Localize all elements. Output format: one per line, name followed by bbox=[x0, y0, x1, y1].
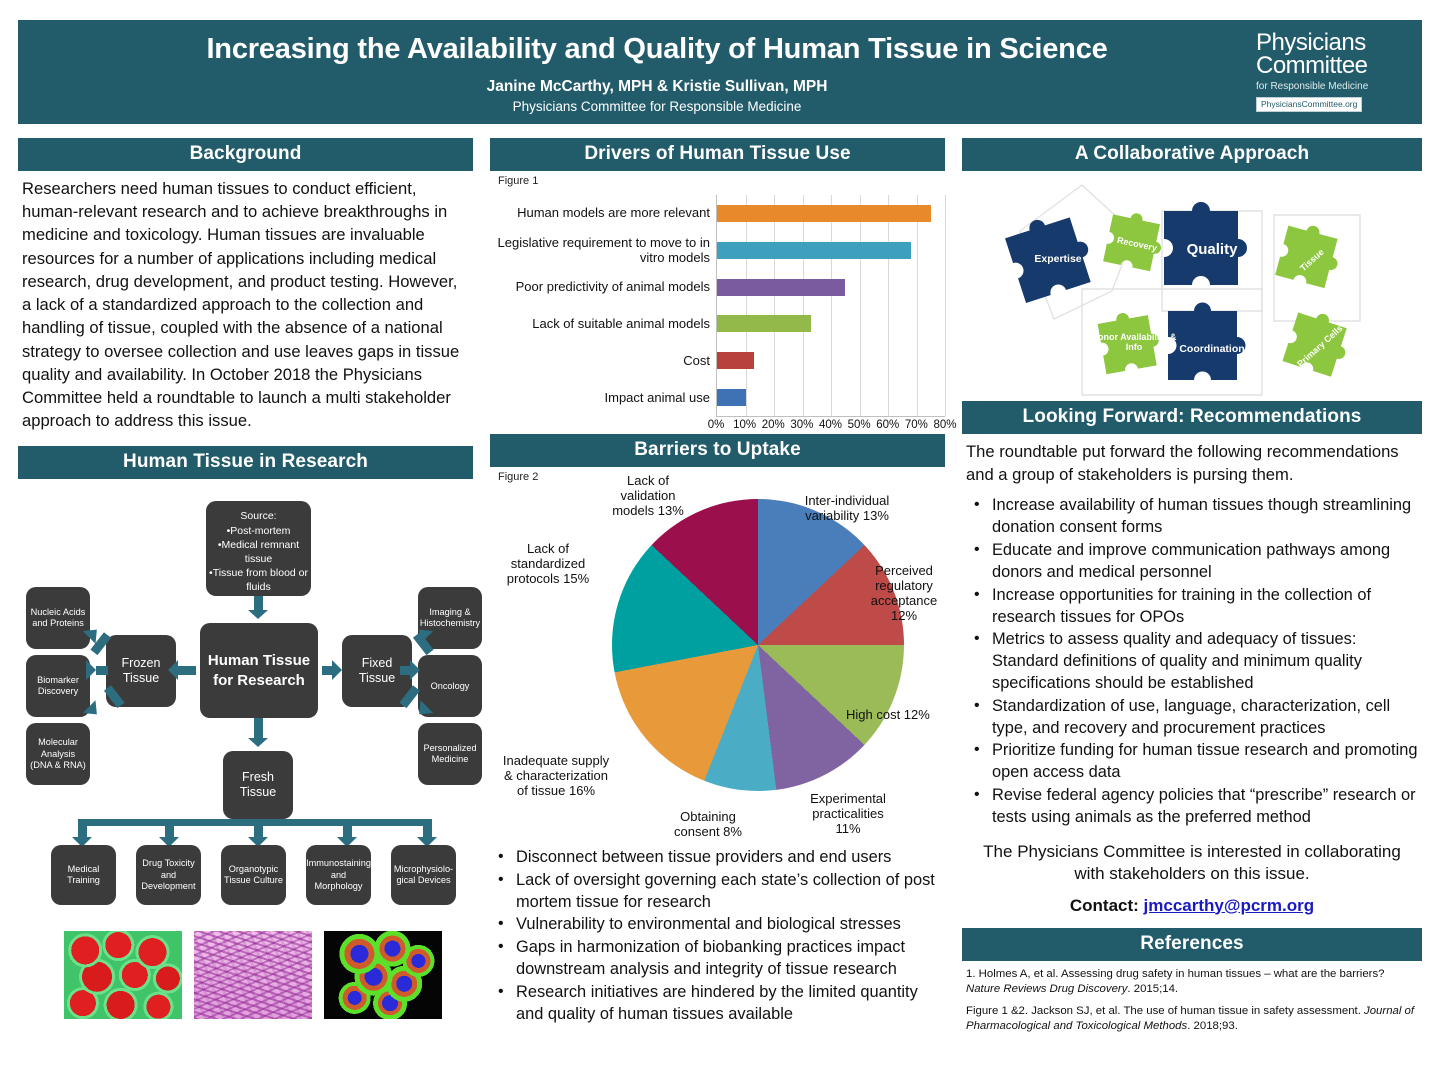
bar-row bbox=[717, 269, 945, 306]
fresh-drop-1 bbox=[165, 819, 174, 837]
column-right: A Collaborative Approach bbox=[962, 138, 1422, 1041]
drivers-heading: Drivers of Human Tissue Use bbox=[490, 138, 945, 171]
node-fresh-tissue: Fresh Tissue bbox=[223, 751, 293, 819]
arrow-center-to-fresh bbox=[254, 718, 263, 738]
bar-4 bbox=[717, 352, 754, 369]
bar-label-3: Lack of suitable animal models bbox=[490, 306, 716, 343]
bar-plot-area bbox=[716, 195, 945, 417]
logo-tagline: for Responsible Medicine bbox=[1256, 80, 1410, 93]
section-references: References 1. Holmes A, et al. Assessing… bbox=[962, 928, 1422, 1034]
source-item-0: •Post-mortem bbox=[209, 524, 308, 538]
fresh-drop-3 bbox=[343, 819, 352, 837]
node-molecular-analysis: Molecular Analysis (DNA & RNA) bbox=[26, 723, 90, 785]
node-source: Source: •Post-mortem •Medical remnant ti… bbox=[206, 501, 311, 596]
bar-row bbox=[717, 342, 945, 379]
tissue-diagram-heading: Human Tissue in Research bbox=[18, 446, 473, 479]
pie-slices bbox=[612, 499, 904, 791]
recommendations-intro: The roundtable put forward the following… bbox=[966, 440, 1418, 486]
background-text: Researchers need human tissues to conduc… bbox=[22, 177, 469, 432]
references-list: 1. Holmes A, et al. Assessing drug safet… bbox=[962, 961, 1422, 1034]
arrowhead-center-to-fresh bbox=[248, 738, 268, 747]
micrograph-cultured-cells bbox=[324, 931, 442, 1019]
source-title: Source: bbox=[209, 509, 308, 523]
puzzle-label-donor: Donor Availability & Info bbox=[1089, 332, 1179, 352]
contact-label: Contact: bbox=[1070, 896, 1139, 915]
figure-1-label: Figure 1 bbox=[498, 175, 538, 187]
pcrm-logo: Physicians Committee for Responsible Med… bbox=[1256, 32, 1414, 112]
bar-2 bbox=[717, 279, 845, 296]
contact-email-link[interactable]: jmccarthy@pcrm.org bbox=[1144, 896, 1315, 915]
arrow-source-to-center bbox=[254, 596, 263, 610]
recommendation-bullet-2: Increase opportunities for training in t… bbox=[966, 585, 1418, 629]
node-medical-training: Medical Training bbox=[51, 845, 116, 905]
column-left: Background Researchers need human tissue… bbox=[18, 138, 473, 1027]
fresh-drop-2 bbox=[254, 819, 263, 837]
node-immunostaining: Immunostaining and Morphology bbox=[306, 845, 371, 905]
collaborative-heading: A Collaborative Approach bbox=[962, 138, 1422, 171]
barriers-bullet-0: Disconnect between tissue providers and … bbox=[490, 847, 945, 869]
source-item-2: •Tissue from blood or fluids bbox=[209, 566, 308, 594]
recommendation-bullet-6: Revise federal agency policies that “pre… bbox=[966, 785, 1418, 829]
bar-row bbox=[717, 195, 945, 232]
section-background: Background Researchers need human tissue… bbox=[18, 138, 473, 432]
bar-0 bbox=[717, 205, 931, 222]
micrograph-row bbox=[18, 931, 473, 1027]
x-tick-4: 40% bbox=[819, 419, 842, 431]
poster-affiliation: Physicians Committee for Responsible Med… bbox=[58, 99, 1256, 114]
bar-chart: Figure 1 Human models are more relevant … bbox=[490, 173, 945, 428]
poster-header: Increasing the Availability and Quality … bbox=[18, 20, 1422, 124]
node-personalized-medicine: Personalized Medicine bbox=[418, 723, 482, 785]
arrowhead-center-to-frozen bbox=[168, 660, 178, 680]
puzzle-piece-coordination bbox=[1168, 303, 1246, 381]
contact-line: Contact: jmccarthy@pcrm.org bbox=[966, 896, 1418, 916]
node-nucleic-acids-proteins: Nucleic Acids and Proteins bbox=[26, 587, 90, 649]
bar-gridline bbox=[945, 195, 946, 416]
bar-row bbox=[717, 379, 945, 416]
recommendation-bullet-1: Educate and improve communication pathwa… bbox=[966, 540, 1418, 584]
barriers-bullet-4: Research initiatives are hindered by the… bbox=[490, 982, 945, 1026]
node-biomarker-discovery: Biomarker Discovery bbox=[26, 655, 90, 717]
barriers-bullet-3: Gaps in harmonization of biobanking prac… bbox=[490, 937, 945, 981]
section-recommendations: Looking Forward: Recommendations The rou… bbox=[962, 401, 1422, 916]
fresh-drop-4 bbox=[423, 819, 432, 837]
pie-label-perceived-regulatory: Perceived regulatory acceptance 12% bbox=[858, 563, 950, 623]
bar-1 bbox=[717, 242, 911, 259]
logo-url: PhysiciansCommittee.org bbox=[1256, 97, 1362, 112]
figure-2-label: Figure 2 bbox=[498, 471, 538, 483]
pie-chart: Figure 2 Inter-individual variability 13… bbox=[490, 469, 945, 859]
bar-5 bbox=[717, 389, 746, 406]
recommendation-bullet-0: Increase availability of human tissues t… bbox=[966, 495, 1418, 539]
x-tick-7: 70% bbox=[905, 419, 928, 431]
poster-root: Increasing the Availability and Quality … bbox=[0, 0, 1440, 1076]
pie-label-obtaining-consent: Obtaining consent 8% bbox=[662, 809, 754, 839]
section-collaborative: A Collaborative Approach bbox=[962, 138, 1422, 401]
bar-label-4: Cost bbox=[490, 343, 716, 380]
puzzle-label-quality: Quality bbox=[1167, 241, 1257, 258]
barriers-bullet-2: Vulnerability to environmental and biolo… bbox=[490, 914, 945, 936]
x-tick-1: 10% bbox=[733, 419, 756, 431]
fresh-drop-0 bbox=[78, 819, 87, 837]
recommendations-heading: Looking Forward: Recommendations bbox=[962, 401, 1422, 434]
bar-label-0: Human models are more relevant bbox=[490, 195, 716, 232]
tissue-flow-diagram: Source: •Post-mortem •Medical remnant ti… bbox=[18, 483, 473, 933]
puzzle-svg bbox=[962, 171, 1422, 399]
pie-label-high-cost: High cost 12% bbox=[846, 707, 950, 722]
background-heading: Background bbox=[18, 138, 473, 171]
pie-label-experimental: Experimental practicalities 11% bbox=[798, 791, 898, 836]
bar-category-labels: Human models are more relevant Legislati… bbox=[490, 195, 716, 417]
bar-label-5: Impact animal use bbox=[490, 380, 716, 417]
node-drug-toxicity: Drug Toxicity and Development bbox=[136, 845, 201, 905]
barriers-heading: Barriers to Uptake bbox=[490, 434, 945, 467]
section-barriers: Barriers to Uptake Figure 2 Inter-indivi… bbox=[490, 434, 945, 1026]
micrograph-he-stain bbox=[194, 931, 312, 1019]
node-microphysiological-devices: Microphysiolo- gical Devices bbox=[391, 845, 456, 905]
pie-label-lack-validation: Lack of validation models 13% bbox=[602, 473, 694, 518]
bar-label-1: Legislative requirement to move to in vi… bbox=[490, 232, 716, 269]
pie-label-lack-standardized: Lack of standardized protocols 15% bbox=[498, 541, 598, 586]
bar-row bbox=[717, 305, 945, 342]
bar-3 bbox=[717, 315, 811, 332]
x-tick-2: 20% bbox=[762, 419, 785, 431]
section-drivers: Drivers of Human Tissue Use Figure 1 Hum… bbox=[490, 138, 945, 428]
node-organotypic-culture: Organotypic Tissue Culture bbox=[221, 845, 286, 905]
x-tick-8: 80% bbox=[933, 419, 956, 431]
barriers-bullet-1: Lack of oversight governing each state’s… bbox=[490, 870, 945, 914]
reference-item-1: Figure 1 &2. Jackson SJ, et al. The use … bbox=[966, 1004, 1418, 1034]
arrowhead-fixed-to-oncology bbox=[410, 660, 420, 680]
header-title-block: Increasing the Availability and Quality … bbox=[18, 30, 1256, 114]
recommendation-bullet-3: Metrics to assess quality and adequacy o… bbox=[966, 629, 1418, 694]
bar-label-2: Poor predictivity of animal models bbox=[490, 269, 716, 306]
x-tick-0: 0% bbox=[708, 419, 725, 431]
arrowhead-source-to-center bbox=[248, 610, 268, 619]
closing-statement: The Physicians Committee is interested i… bbox=[966, 841, 1418, 886]
bar-x-axis-ticks: 0%10%20%30%40%50%60%70%80% bbox=[716, 419, 945, 433]
reference-item-0: 1. Holmes A, et al. Assessing drug safet… bbox=[966, 967, 1418, 997]
poster-authors: Janine McCarthy, MPH & Kristie Sullivan,… bbox=[58, 78, 1256, 96]
arrow-center-to-frozen bbox=[178, 666, 196, 675]
node-imaging-histochemistry: Imaging & Histochemistry bbox=[418, 587, 482, 649]
arrow-frozen-to-biomarker bbox=[96, 666, 108, 675]
recommendations-bullet-list: Increase availability of human tissues t… bbox=[966, 495, 1418, 828]
column-middle: Drivers of Human Tissue Use Figure 1 Hum… bbox=[490, 138, 945, 1027]
micrograph-muscle-tissue bbox=[64, 931, 182, 1019]
source-item-1: •Medical remnant tissue bbox=[209, 538, 308, 566]
logo-line-2: Committee bbox=[1256, 55, 1410, 78]
page-title: Increasing the Availability and Quality … bbox=[58, 34, 1256, 66]
references-heading: References bbox=[962, 928, 1422, 961]
node-human-tissue-for-research: Human Tissue for Research bbox=[200, 623, 318, 718]
pie-label-inadequate-supply: Inadequate supply & characterization of … bbox=[500, 753, 612, 798]
bar-row bbox=[717, 232, 945, 269]
puzzle-label-coordination: Coordination bbox=[1167, 343, 1257, 355]
recommendation-bullet-4: Standardization of use, language, charac… bbox=[966, 696, 1418, 740]
puzzle-diagram: Expertise Recovery Quality Tissue Donor … bbox=[962, 171, 1422, 401]
pie-label-inter-individual: Inter-individual variability 13% bbox=[782, 493, 912, 523]
arrowhead-center-to-fixed bbox=[332, 660, 342, 680]
section-tissue-diagram: Human Tissue in Research Source: •Post-m… bbox=[18, 446, 473, 1027]
recommendation-bullet-5: Prioritize funding for human tissue rese… bbox=[966, 740, 1418, 784]
puzzle-label-expertise: Expertise bbox=[1013, 253, 1103, 265]
x-tick-5: 50% bbox=[848, 419, 871, 431]
barriers-bullet-list: Disconnect between tissue providers and … bbox=[490, 847, 945, 1026]
x-tick-3: 30% bbox=[790, 419, 813, 431]
x-tick-6: 60% bbox=[876, 419, 899, 431]
arrowhead-frozen-to-biomarker bbox=[86, 660, 96, 680]
